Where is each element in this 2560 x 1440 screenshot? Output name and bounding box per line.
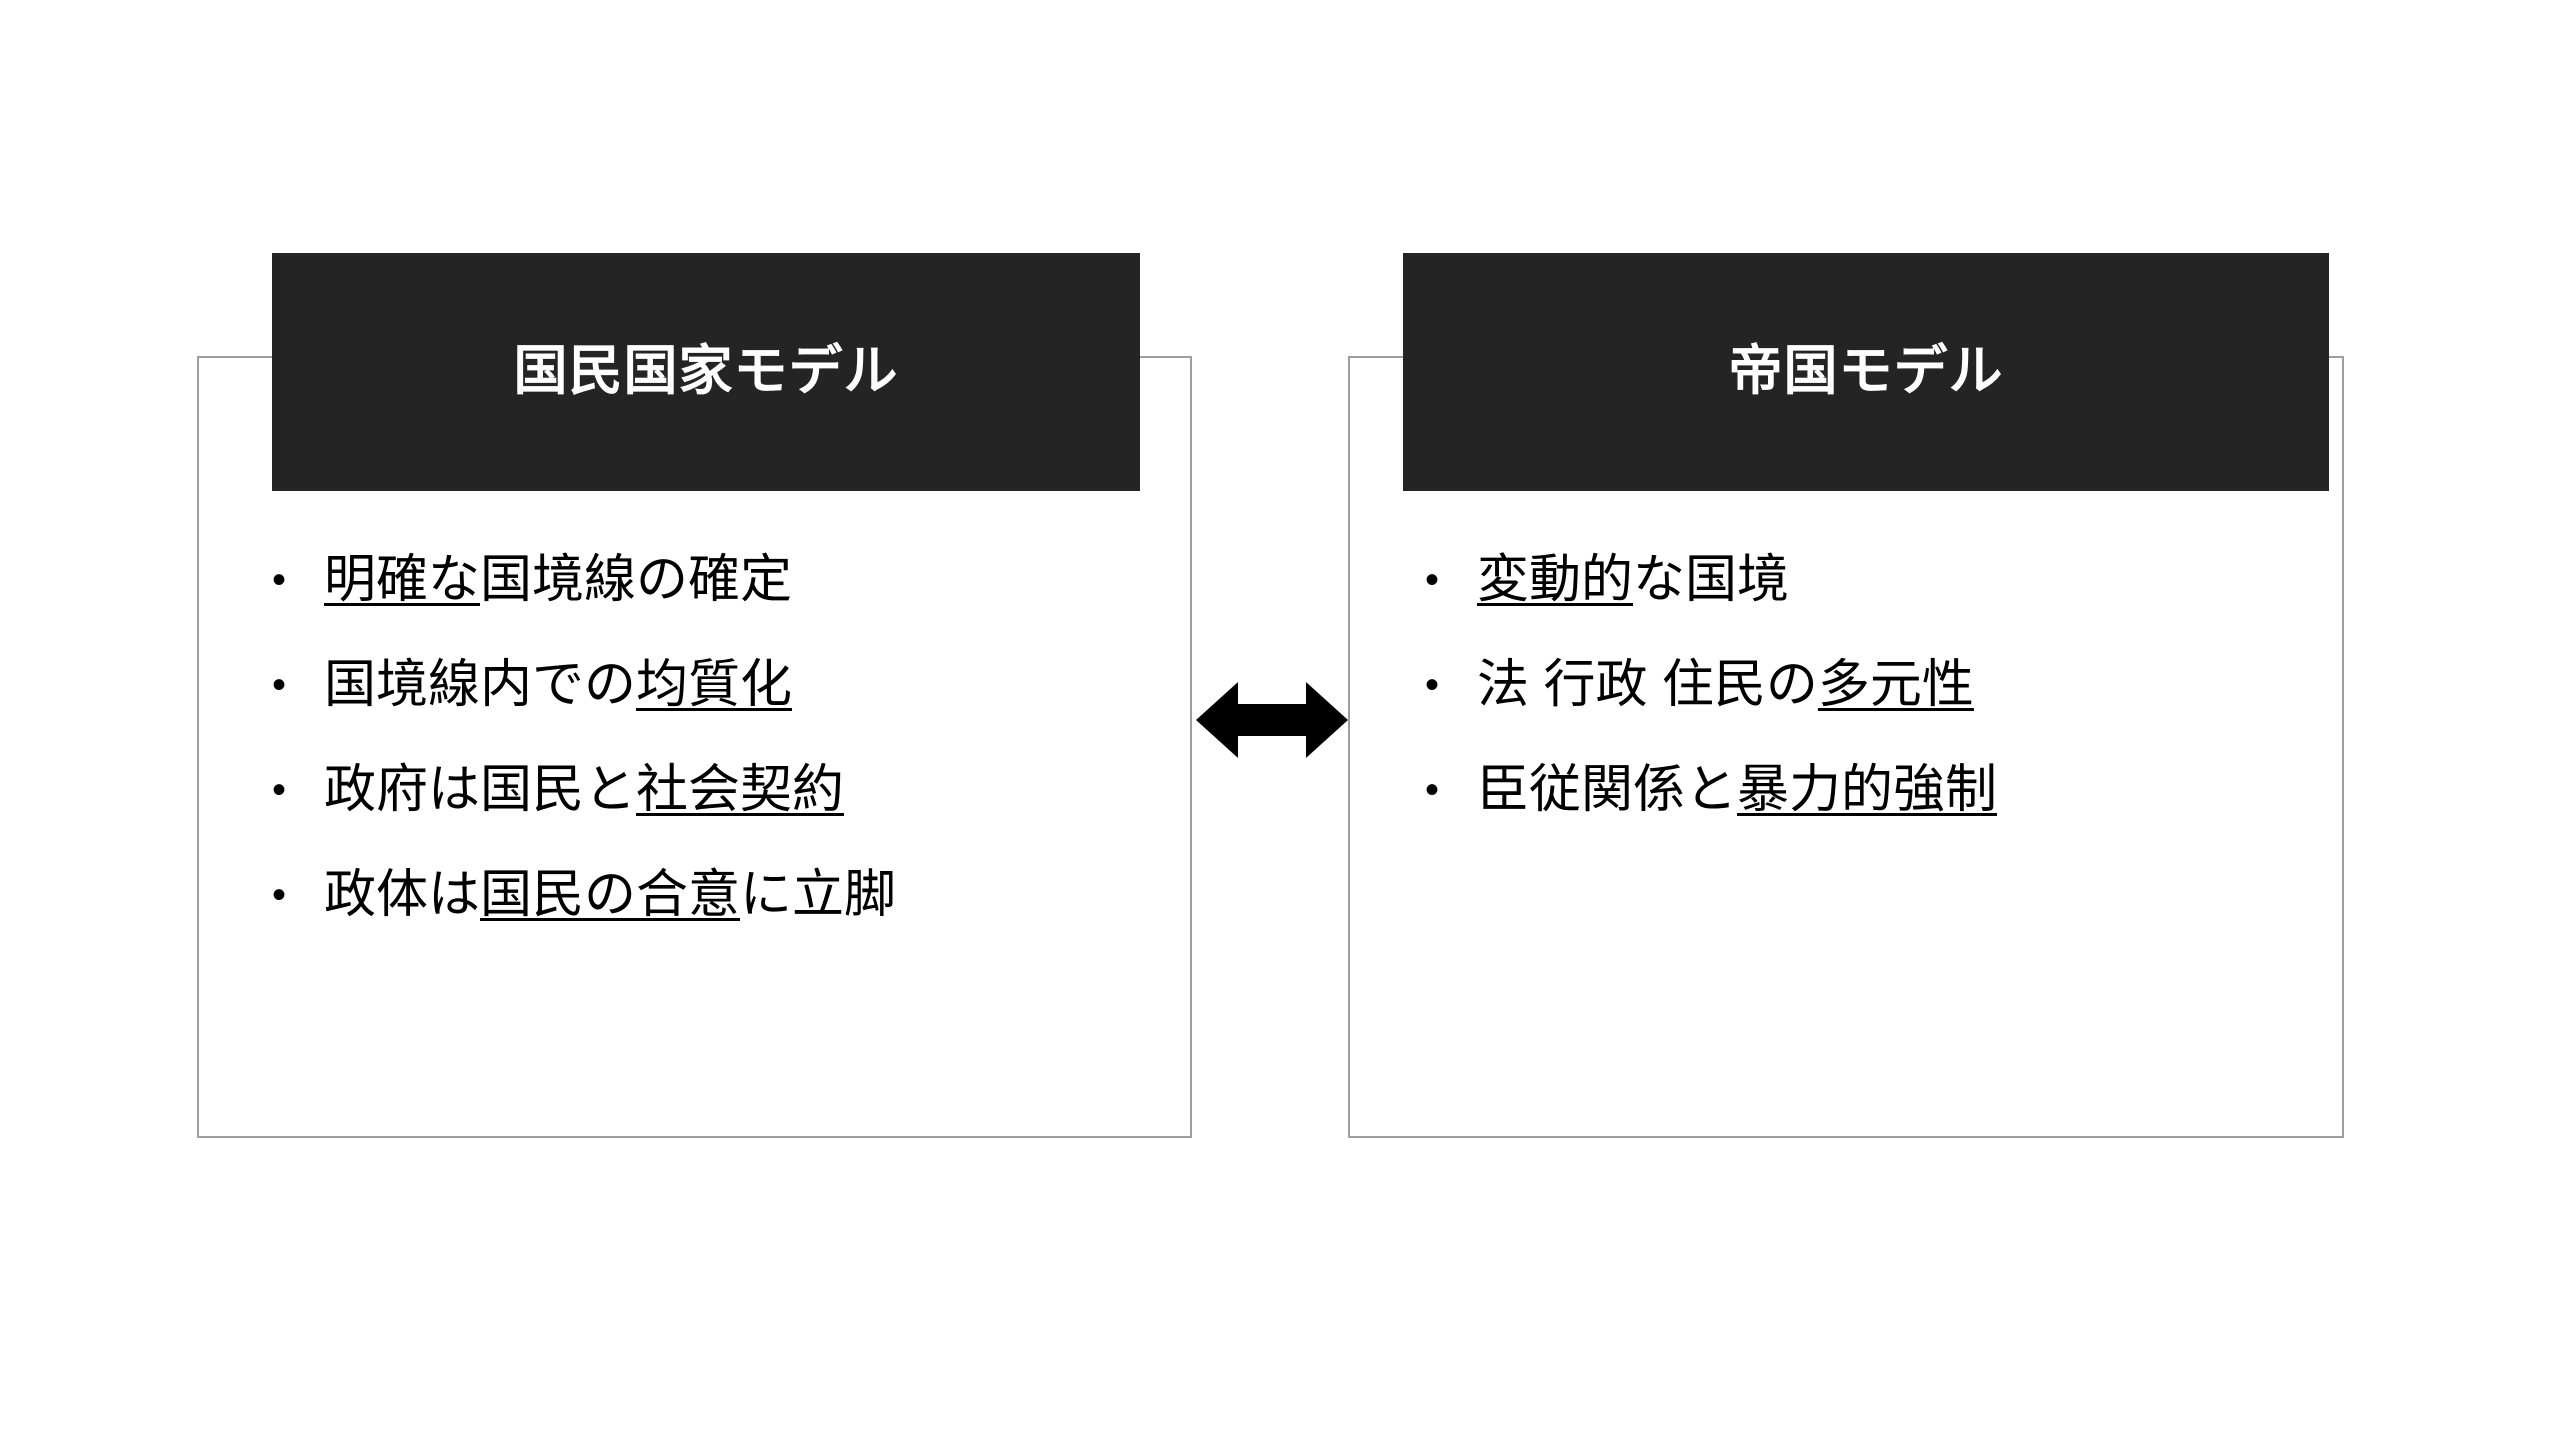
bullet-plain-before: 政体は	[324, 866, 480, 924]
bullet-plain-after: な国境	[1633, 551, 1789, 609]
bullet-underlined: 社会契約	[636, 761, 844, 819]
bullet-plain-before: 政府は国民と	[324, 761, 636, 819]
bullet-plain-before: 法 行政 住民の	[1477, 656, 1818, 714]
bullet-marker: •	[1425, 548, 1477, 612]
bullet-text: 政体は国民の合意に立脚	[324, 863, 1172, 928]
slide-canvas: 国民国家モデル • 明確な国境線の確定 • 国境線内での均質化 • 政府は国民と…	[0, 0, 2560, 1440]
bullet-underlined: 国民の合意	[480, 866, 740, 924]
bullet-list-nation-state: • 明確な国境線の確定 • 国境線内での均質化 • 政府は国民と社会契約 • 政…	[272, 548, 1172, 968]
list-item: • 政府は国民と社会契約	[272, 758, 1172, 823]
bullet-list-empire: • 変動的な国境 • 法 行政 住民の多元性 • 臣従関係と暴力的強制	[1425, 548, 2325, 863]
bullet-text: 国境線内での均質化	[324, 653, 1172, 718]
bullet-plain-after: 国境線の確定	[480, 551, 792, 609]
bullet-marker: •	[272, 863, 324, 927]
bullet-plain-after: に立脚	[740, 866, 896, 924]
list-item: • 変動的な国境	[1425, 548, 2325, 613]
bullet-underlined: 暴力的強制	[1737, 761, 1997, 819]
panel-header-nation-state: 国民国家モデル	[272, 253, 1140, 491]
double-headed-arrow-icon	[1196, 676, 1348, 764]
panel-title-nation-state: 国民国家モデル	[514, 342, 899, 401]
bullet-marker: •	[1425, 653, 1477, 717]
bullet-underlined: 多元性	[1818, 656, 1974, 714]
panel-title-empire: 帝国モデル	[1729, 342, 2004, 401]
bullet-text: 政府は国民と社会契約	[324, 758, 1172, 823]
list-item: • 政体は国民の合意に立脚	[272, 863, 1172, 928]
bullet-marker: •	[272, 653, 324, 717]
bullet-underlined: 明確な	[324, 551, 480, 609]
list-item: • 明確な国境線の確定	[272, 548, 1172, 613]
panel-header-empire: 帝国モデル	[1403, 253, 2329, 491]
bullet-plain-before: 国境線内での	[324, 656, 636, 714]
bullet-text: 変動的な国境	[1477, 548, 2325, 613]
bullet-underlined: 変動的	[1477, 551, 1633, 609]
bullet-marker: •	[272, 758, 324, 822]
list-item: • 法 行政 住民の多元性	[1425, 653, 2325, 718]
bullet-marker: •	[272, 548, 324, 612]
bullet-underlined: 均質化	[636, 656, 792, 714]
bullet-text: 明確な国境線の確定	[324, 548, 1172, 613]
bullet-text: 臣従関係と暴力的強制	[1477, 758, 2325, 823]
list-item: • 国境線内での均質化	[272, 653, 1172, 718]
bullet-plain-before: 臣従関係と	[1477, 761, 1737, 819]
bullet-text: 法 行政 住民の多元性	[1477, 653, 2325, 718]
list-item: • 臣従関係と暴力的強制	[1425, 758, 2325, 823]
bullet-marker: •	[1425, 758, 1477, 822]
